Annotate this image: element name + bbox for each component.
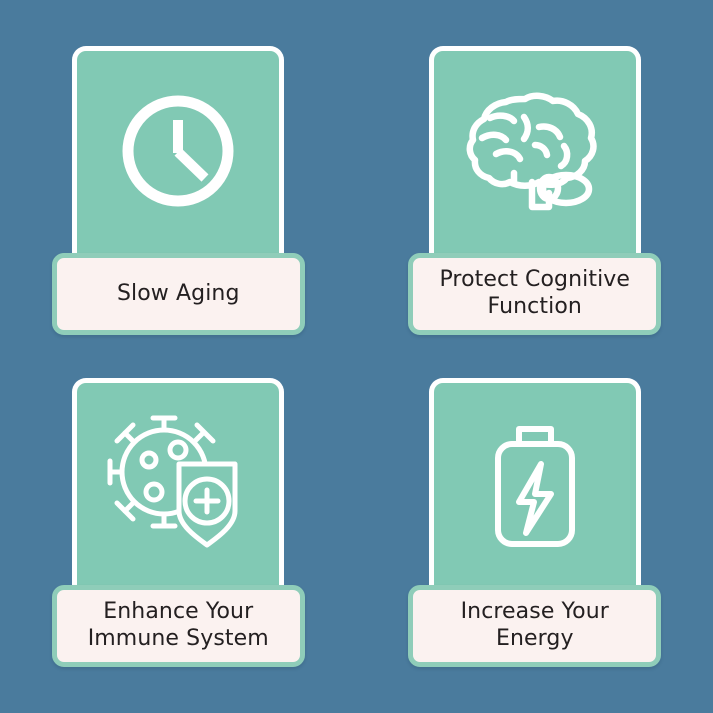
benefit-label: Enhance Your Immune System [80,593,277,659]
benefit-card-slow-aging[interactable]: Slow Aging [0,0,357,357]
benefit-card-grid: Slow Aging [0,0,713,713]
benefit-card-enhance-your-immune-system[interactable]: Enhance Your Immune System [0,357,357,713]
benefit-card-protect-cognitive-function[interactable]: Protect Cognitive Function [357,0,713,357]
benefit-label: Increase Your Energy [453,593,617,659]
icon-panel-slow-aging [72,46,284,261]
label-plate-enhance-your-immune-system: Enhance Your Immune System [52,585,305,667]
label-plate-increase-your-energy: Increase Your Energy [408,585,661,667]
virus-shield-icon [103,408,253,562]
clock-icon [117,90,239,216]
benefits-infographic: Slow Aging [0,0,713,713]
benefit-card-increase-your-energy[interactable]: Increase Your Energy [357,357,713,713]
brain-icon [465,83,605,223]
icon-panel-enhance-your-immune-system [72,378,284,593]
icon-panel-increase-your-energy [429,378,641,593]
label-plate-slow-aging: Slow Aging [52,253,305,335]
battery-bolt-icon [479,408,591,562]
benefit-label: Protect Cognitive Function [431,261,638,327]
icon-panel-protect-cognitive-function [429,46,641,261]
benefit-label: Slow Aging [109,275,248,314]
label-plate-protect-cognitive-function: Protect Cognitive Function [408,253,661,335]
